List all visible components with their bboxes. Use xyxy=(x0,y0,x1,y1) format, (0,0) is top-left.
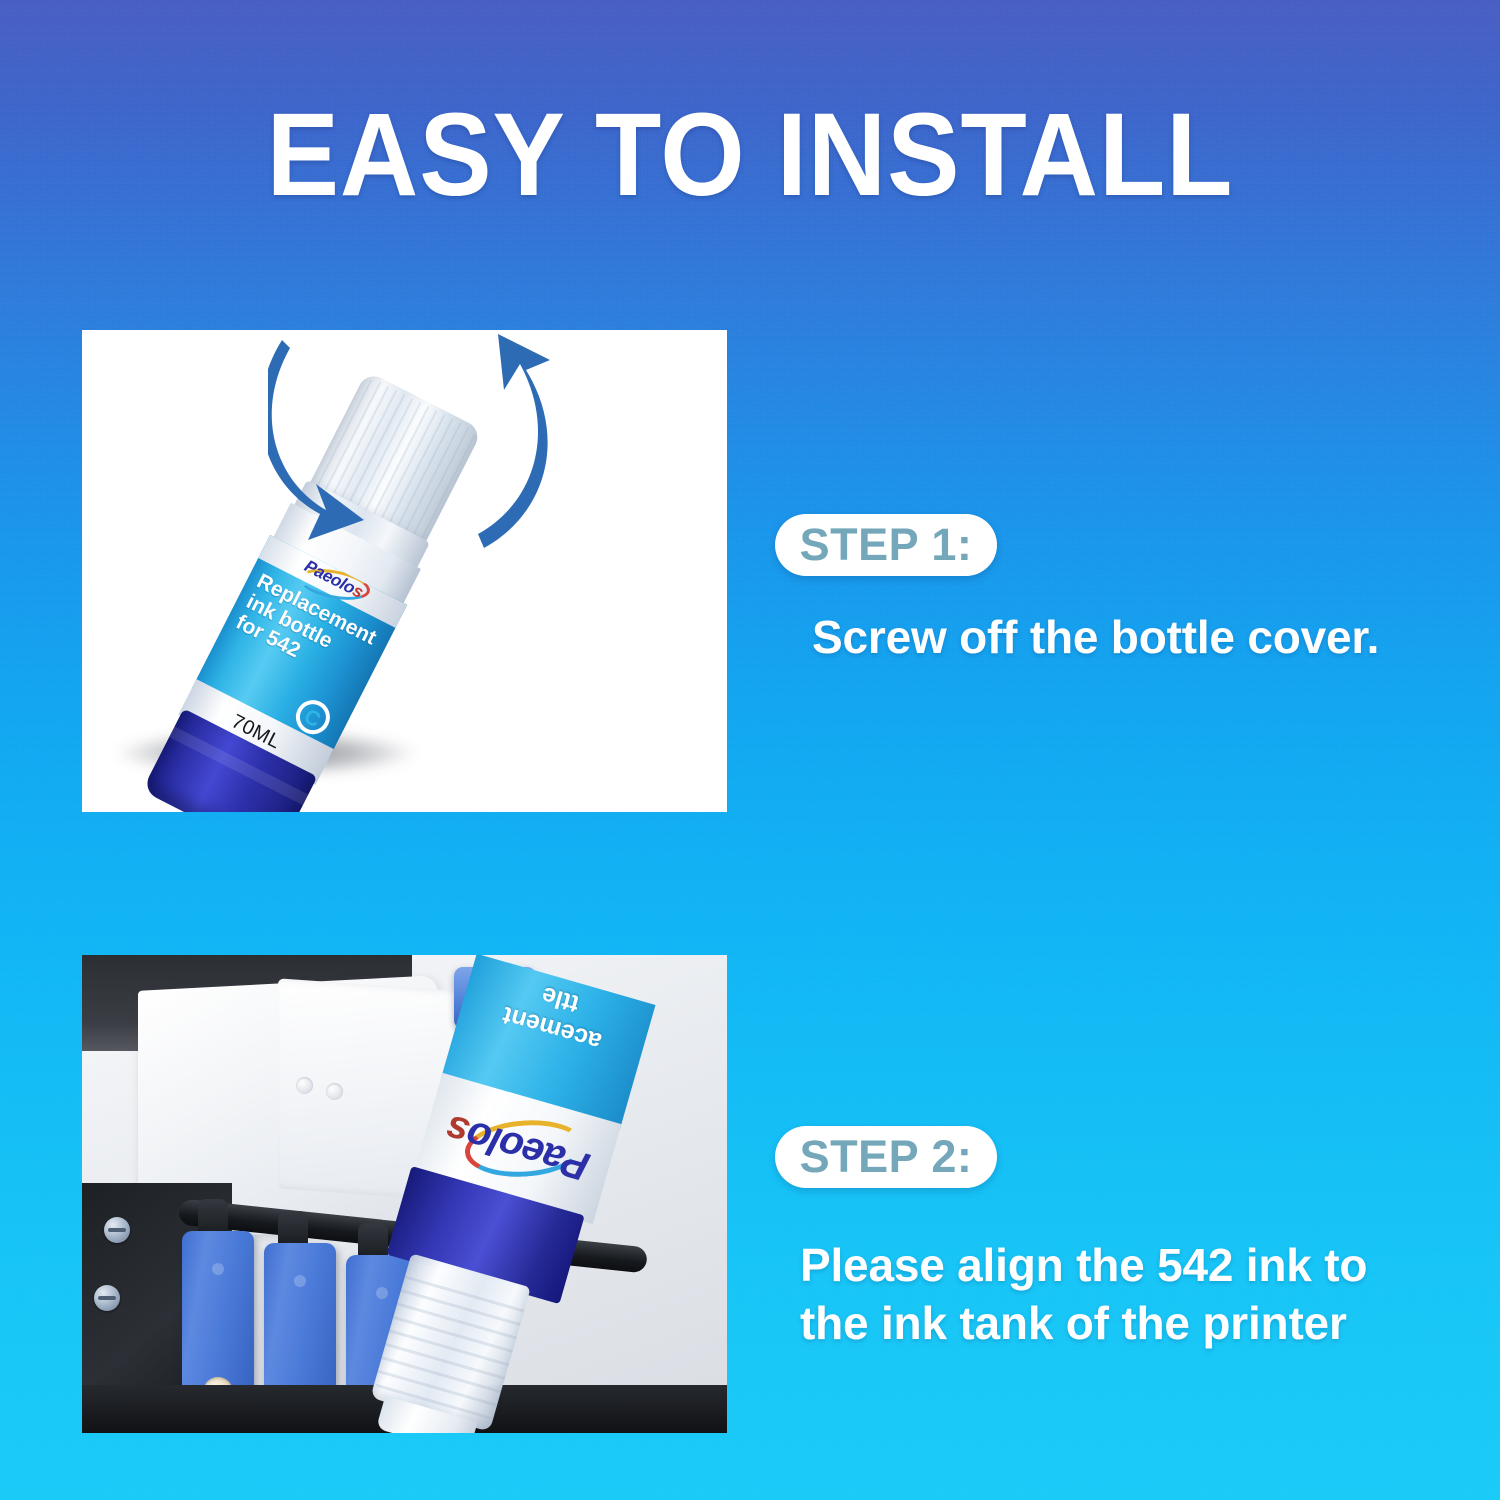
printer-illustration: acement ttle Paeolos xyxy=(82,955,727,1433)
printer-panel-dot xyxy=(326,1083,343,1100)
step-2-photo: acement ttle Paeolos xyxy=(82,955,727,1433)
printer-screw-icon xyxy=(104,1217,130,1243)
step-2-instruction-line-1: Please align the 542 ink to xyxy=(800,1236,1420,1294)
infographic-page: EASY TO INSTALL Paeolos Replacement ink … xyxy=(0,0,1500,1500)
printer-panel-dot xyxy=(296,1077,313,1094)
rotation-arrows-group xyxy=(268,334,588,584)
step-1-photo: Paeolos Replacement ink bottle for 542 C… xyxy=(82,330,727,812)
brand-accent-letter: s xyxy=(441,1106,474,1154)
step-2-instruction: Please align the 542 ink to the ink tank… xyxy=(800,1236,1420,1352)
step-1-badge: STEP 1: xyxy=(775,514,997,576)
step-2-instruction-line-2: the ink tank of the printer xyxy=(800,1294,1420,1352)
step-2-badge-label: STEP 2: xyxy=(800,1134,973,1181)
page-title: EASY TO INSTALL xyxy=(60,96,1440,214)
step-1-badge-label: STEP 1: xyxy=(800,522,973,569)
step-1-instruction: Screw off the bottle cover. xyxy=(812,608,1452,666)
bottle-illustration: Paeolos Replacement ink bottle for 542 C… xyxy=(82,330,727,812)
printer-screw-icon xyxy=(94,1285,120,1311)
rotate-arrow-left-icon xyxy=(268,340,364,540)
rotate-arrow-right-icon xyxy=(478,334,550,548)
step-2-badge: STEP 2: xyxy=(775,1126,997,1188)
